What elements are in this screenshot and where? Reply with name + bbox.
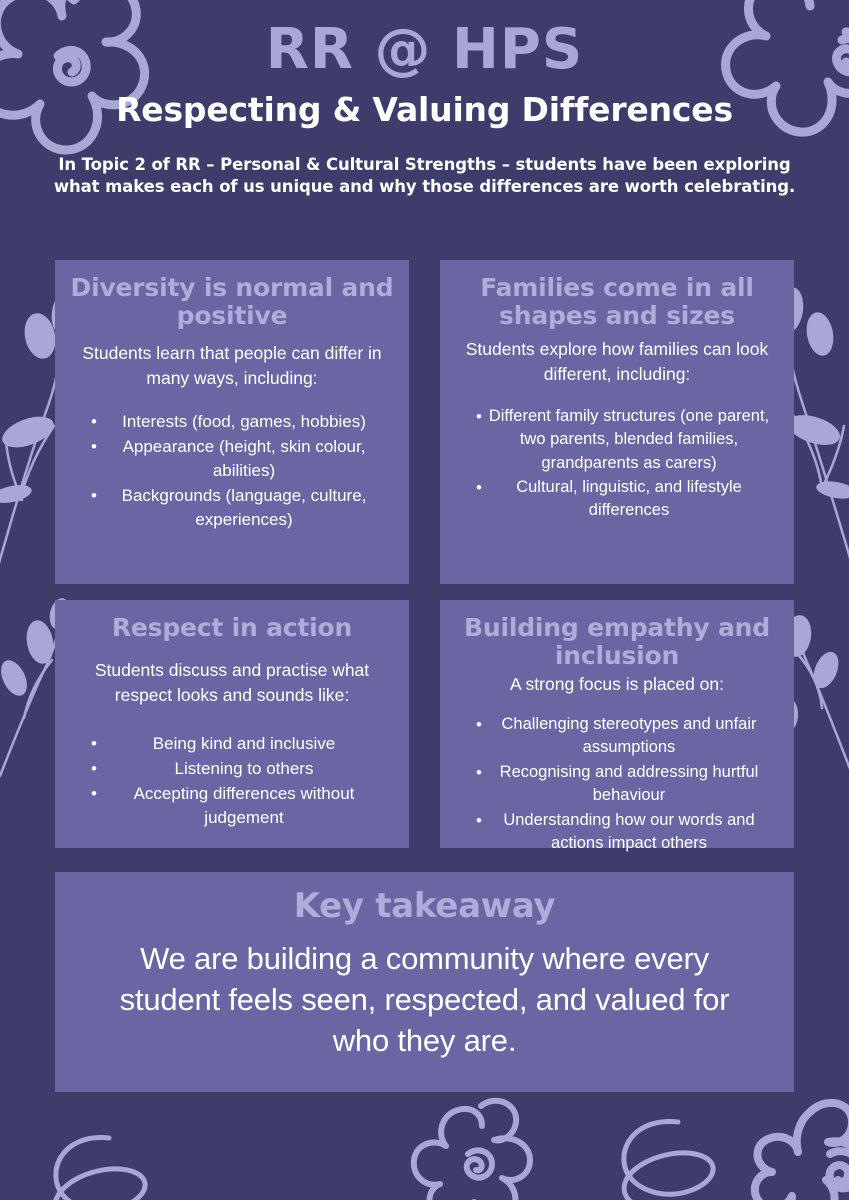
key-takeaway-panel: Key takeaway We are building a community…	[55, 872, 794, 1092]
list-item-text: Backgrounds (language, culture, experien…	[122, 486, 367, 529]
card-bullet-list: •Interests (food, games, hobbies) •Appea…	[69, 410, 395, 533]
card-title: Diversity is normal and positive	[69, 274, 395, 330]
bullet-glyph: •	[476, 809, 482, 833]
intro-paragraph: In Topic 2 of RR – Personal & Cultural S…	[45, 154, 805, 198]
bullet-glyph: •	[91, 410, 97, 434]
list-item: •Being kind and inclusive	[73, 732, 391, 756]
card-title: Families come in all shapes and sizes	[454, 274, 780, 330]
list-item: •Appearance (height, skin colour, abilit…	[73, 435, 391, 483]
list-item-text: Challenging stereotypes and unfair assum…	[501, 715, 756, 756]
poster-header: RR @ HPS Respecting & Valuing Difference…	[0, 0, 849, 198]
card-intro: A strong focus is placed on:	[454, 672, 780, 697]
list-item-text: Accepting differences without judgement	[134, 784, 355, 827]
page-title: RR @ HPS	[0, 18, 849, 82]
key-takeaway-title: Key takeaway	[95, 886, 754, 927]
card-respect: Respect in action Students discuss and p…	[55, 600, 409, 848]
bullet-glyph: •	[476, 713, 482, 737]
list-item-text: Different family structures (one parent,…	[489, 407, 769, 472]
bullet-glyph: •	[91, 757, 97, 781]
list-item-text: Appearance (height, skin colour, abiliti…	[123, 437, 366, 480]
list-item: •Challenging stereotypes and unfair assu…	[458, 713, 776, 760]
card-bullet-list: •Different family structures (one parent…	[454, 405, 780, 523]
list-item: •Understanding how our words and actions…	[458, 809, 776, 856]
card-empathy: Building empathy and inclusion A strong …	[440, 600, 794, 848]
flower-doodle-icon	[752, 1098, 849, 1200]
card-diversity: Diversity is normal and positive Student…	[55, 260, 409, 584]
flower-doodle-icon	[406, 1096, 556, 1200]
bullet-glyph: •	[476, 476, 482, 500]
bullet-glyph: •	[476, 761, 482, 785]
list-item: •Recognising and addressing hurtful beha…	[458, 761, 776, 808]
swirl-doodle-icon	[596, 1108, 736, 1200]
card-intro: Students discuss and practise what respe…	[69, 658, 395, 708]
list-item-text: Cultural, linguistic, and lifestyle diff…	[516, 478, 742, 519]
card-intro: Students learn that people can differ in…	[69, 341, 395, 391]
bullet-glyph: •	[91, 435, 97, 459]
bullet-glyph: •	[91, 484, 97, 508]
page-subtitle: Respecting & Valuing Differences	[0, 90, 849, 130]
list-item: •Interests (food, games, hobbies)	[73, 410, 391, 434]
poster-canvas: RR @ HPS Respecting & Valuing Difference…	[0, 0, 849, 1200]
card-title: Respect in action	[69, 614, 395, 642]
swirl-doodle-icon	[14, 1110, 174, 1200]
card-bullet-list: •Challenging stereotypes and unfair assu…	[454, 713, 780, 856]
list-item-text: Recognising and addressing hurtful behav…	[500, 763, 759, 804]
list-item-text: Being kind and inclusive	[153, 734, 335, 753]
list-item: •Backgrounds (language, culture, experie…	[73, 484, 391, 532]
card-intro: Students explore how families can look d…	[454, 337, 780, 387]
list-item-text: Listening to others	[175, 759, 314, 778]
card-families: Families come in all shapes and sizes St…	[440, 260, 794, 584]
bullet-glyph: •	[91, 732, 97, 756]
bullet-glyph: •	[476, 405, 482, 429]
content-cards-grid: Diversity is normal and positive Student…	[55, 260, 794, 848]
list-item-text: Understanding how our words and actions …	[503, 811, 754, 852]
list-item: •Cultural, linguistic, and lifestyle dif…	[458, 476, 776, 523]
list-item: •Accepting differences without judgement	[73, 782, 391, 830]
list-item: •Listening to others	[73, 757, 391, 781]
list-item: •Different family structures (one parent…	[458, 405, 776, 475]
card-bullet-list: •Being kind and inclusive •Listening to …	[69, 732, 395, 831]
bullet-glyph: •	[91, 782, 97, 806]
card-title: Building empathy and inclusion	[454, 614, 780, 670]
list-item-text: Interests (food, games, hobbies)	[122, 412, 366, 431]
key-takeaway-body: We are building a community where every …	[95, 939, 754, 1062]
